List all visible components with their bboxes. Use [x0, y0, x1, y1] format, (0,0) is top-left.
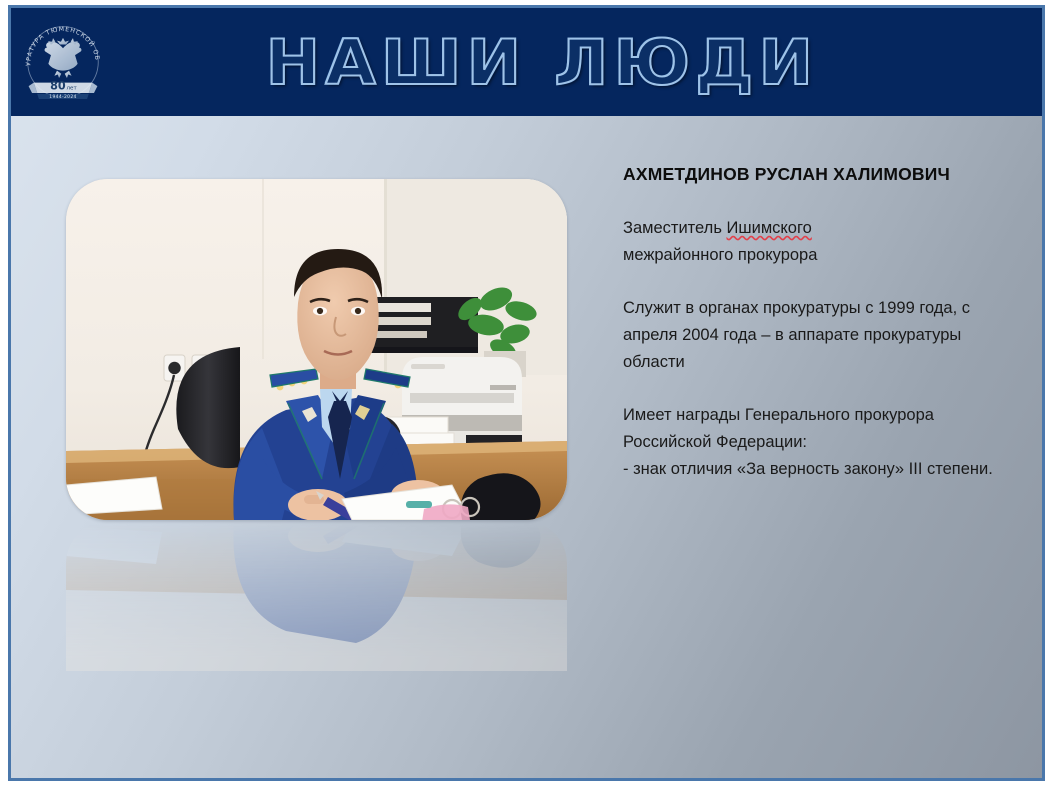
svg-text:лет: лет — [66, 86, 77, 92]
person-position-district: Ишимского — [727, 219, 812, 237]
portrait-photo — [66, 179, 567, 520]
emblem-panel: ПРОКУРАТУРА ТЮМЕНСКОЙ ОБЛАСТИ — [13, 8, 112, 116]
svg-text:80: 80 — [50, 80, 66, 93]
person-awards-intro: Имеет награды Генерального прокурора Рос… — [623, 402, 1023, 456]
svg-text:1944-2024: 1944-2024 — [49, 94, 76, 100]
slide: ПРОКУРАТУРА ТЮМЕНСКОЙ ОБЛАСТИ — [8, 5, 1045, 781]
slide-header: ПРОКУРАТУРА ТЮМЕНСКОЙ ОБЛАСТИ — [11, 8, 1042, 116]
person-position-prefix: Заместитель — [623, 219, 727, 237]
portrait-photo-reflection — [66, 521, 567, 671]
portrait-photo-illustration — [66, 179, 567, 520]
person-awards-item: - знак отличия «За верность закону» III … — [623, 456, 1023, 483]
person-name: АХМЕТДИНОВ РУСЛАН ХАЛИМОВИЧ — [623, 160, 1023, 189]
person-position: Заместитель Ишимского — [623, 215, 1023, 242]
person-service-record: Служит в органах прокуратуры с 1999 года… — [623, 295, 1023, 376]
page-title: НАШИ ЛЮДИ — [234, 26, 818, 99]
slide-title-wrap: НАШИ ЛЮДИ — [11, 8, 1042, 116]
person-info-block: АХМЕТДИНОВ РУСЛАН ХАЛИМОВИЧ Заместитель … — [623, 160, 1023, 483]
person-position-line2: межрайонного прокурора — [623, 242, 1023, 269]
prosecutor-emblem-icon: ПРОКУРАТУРА ТЮМЕНСКОЙ ОБЛАСТИ — [20, 19, 106, 105]
